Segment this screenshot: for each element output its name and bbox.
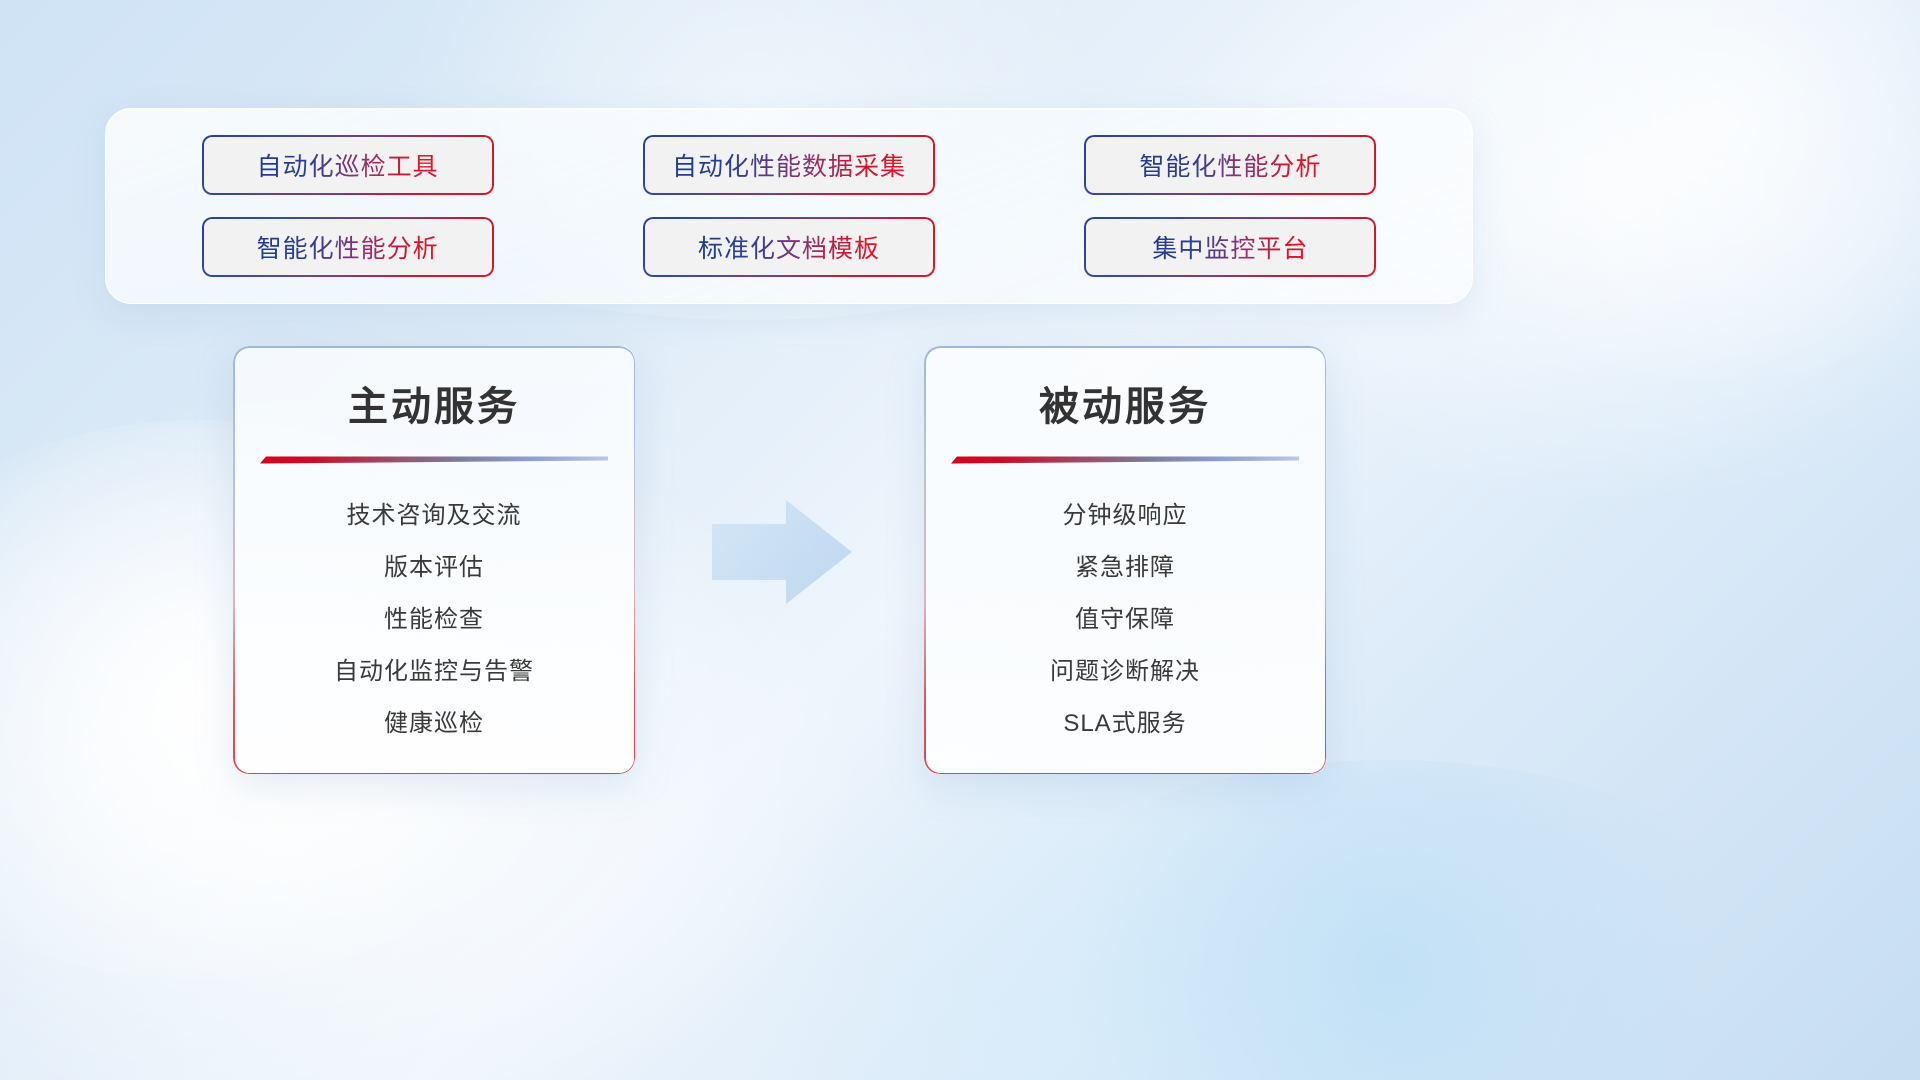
flow-arrow-right-icon	[712, 500, 852, 604]
list-item: 紧急排障	[924, 542, 1326, 594]
capability-chip-label: 自动化性能数据采集	[672, 147, 906, 183]
capability-chip-label: 智能化性能分析	[1139, 147, 1321, 183]
list-item: 值守保障	[924, 594, 1326, 646]
proactive-service-card: 主动服务 技术咨询及交流 版本评估 性能检查	[233, 346, 635, 774]
capability-chip-label: 自动化巡检工具	[257, 147, 439, 183]
capability-chip-2[interactable]: 自动化性能数据采集	[643, 135, 935, 195]
background-glow-top-right	[1400, 0, 1920, 380]
list-item: 技术咨询及交流	[233, 490, 635, 542]
card-title: 被动服务	[924, 374, 1326, 432]
list-item: 性能检查	[233, 594, 635, 646]
capability-chip-label: 集中监控平台	[1152, 229, 1308, 265]
card-title: 主动服务	[233, 374, 635, 432]
reactive-service-list: 分钟级响应 紧急排障 值守保障 问题诊断解决 SLA式服务	[924, 490, 1326, 750]
capability-chip-label: 智能化性能分析	[257, 229, 439, 265]
list-item: SLA式服务	[924, 698, 1326, 750]
capability-panel: 自动化巡检工具 自动化性能数据采集 智能化性能分析 智能化性能分析 标准化文档模…	[105, 108, 1473, 304]
list-item: 版本评估	[233, 542, 635, 594]
background-glow-bottom-right	[980, 760, 1800, 1080]
capability-chip-6[interactable]: 集中监控平台	[1084, 217, 1376, 277]
card-divider	[951, 454, 1299, 464]
capability-chip-4[interactable]: 智能化性能分析	[202, 217, 494, 277]
list-item: 分钟级响应	[924, 490, 1326, 542]
list-item: 健康巡检	[233, 698, 635, 750]
capability-chip-label: 标准化文档模板	[698, 229, 880, 265]
list-item: 问题诊断解决	[924, 646, 1326, 698]
reactive-service-card: 被动服务 分钟级响应 紧急排障 值守保障	[924, 346, 1326, 774]
capability-chip-3[interactable]: 智能化性能分析	[1084, 135, 1376, 195]
diagram-canvas: 自动化巡检工具 自动化性能数据采集 智能化性能分析 智能化性能分析 标准化文档模…	[0, 0, 1920, 1080]
capability-chip-5[interactable]: 标准化文档模板	[643, 217, 935, 277]
capability-chip-1[interactable]: 自动化巡检工具	[202, 135, 494, 195]
card-divider	[260, 454, 608, 464]
list-item: 自动化监控与告警	[233, 646, 635, 698]
proactive-service-list: 技术咨询及交流 版本评估 性能检查 自动化监控与告警 健康巡检	[233, 490, 635, 750]
